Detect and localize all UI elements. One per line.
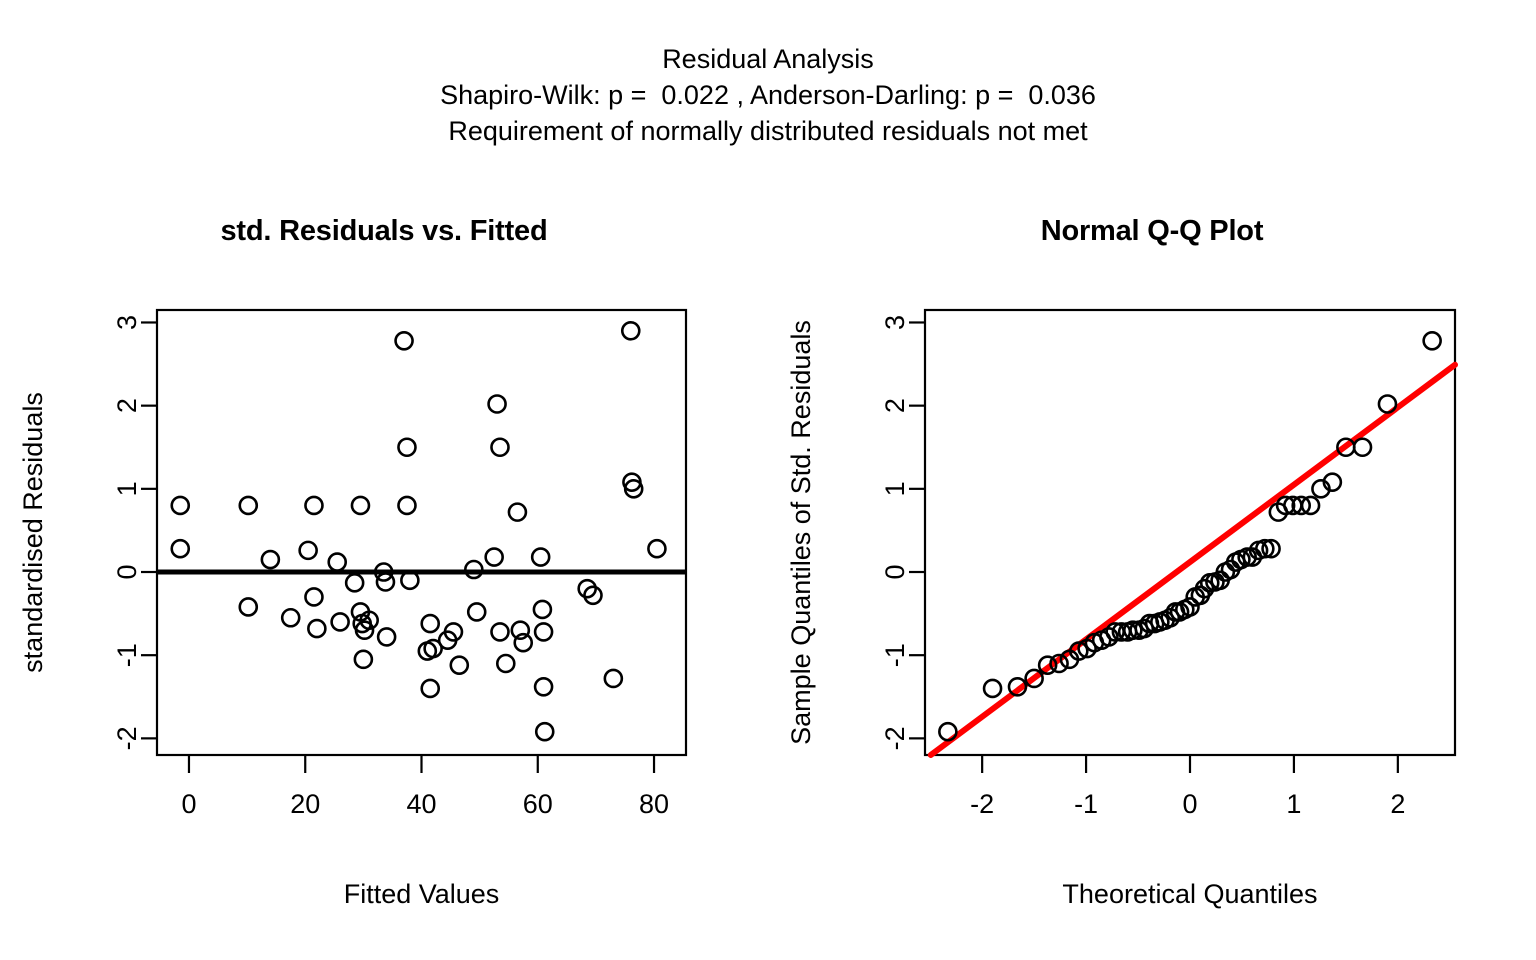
residual-analysis-figure: Residual Analysis Shapiro-Wilk: p = 0.02… <box>0 0 1536 960</box>
data-point <box>532 549 549 566</box>
x-tick-label: -2 <box>970 789 994 819</box>
data-point <box>1354 439 1371 456</box>
y-tick-label: -1 <box>112 643 142 667</box>
data-point <box>282 609 299 626</box>
data-point <box>491 623 508 640</box>
data-point <box>355 651 372 668</box>
data-point <box>352 497 369 514</box>
data-point <box>305 588 322 605</box>
data-point <box>396 332 413 349</box>
y-tick-label: 0 <box>880 564 910 579</box>
data-point <box>172 497 189 514</box>
panel-normal-qq: Normal Q-Q Plot -2-10123-2-1012Theoretic… <box>768 0 1536 960</box>
panel-residuals-vs-fitted: std. Residuals vs. Fitted -2-10123020406… <box>0 0 768 960</box>
y-tick-label: 1 <box>112 481 142 496</box>
data-point <box>984 680 1001 697</box>
data-point <box>240 497 257 514</box>
data-point <box>377 573 394 590</box>
y-tick-label: 3 <box>112 315 142 330</box>
y-tick-label: 3 <box>880 315 910 330</box>
data-point <box>422 680 439 697</box>
data-point <box>1424 332 1441 349</box>
data-point <box>172 540 189 557</box>
x-axis-title: Theoretical Quantiles <box>1062 879 1317 909</box>
data-point <box>648 540 665 557</box>
plot-panels: std. Residuals vs. Fitted -2-10123020406… <box>0 0 1536 960</box>
data-point <box>1379 395 1396 412</box>
x-axis-title: Fitted Values <box>344 879 500 909</box>
data-point <box>535 678 552 695</box>
x-tick-label: 0 <box>181 789 196 819</box>
data-point <box>451 657 468 674</box>
data-point <box>486 549 503 566</box>
data-point <box>346 574 363 591</box>
data-points <box>172 322 666 740</box>
data-point <box>497 655 514 672</box>
x-tick-label: 40 <box>406 789 436 819</box>
data-point <box>489 395 506 412</box>
y-tick-label: -2 <box>112 726 142 750</box>
data-point <box>329 554 346 571</box>
normal-qq-plot: -2-10123-2-1012Theoretical QuantilesSamp… <box>768 0 1536 960</box>
data-point <box>622 322 639 339</box>
residuals-vs-fitted-plot: -2-10123020406080Fitted Valuesstandardis… <box>0 0 768 960</box>
y-tick-label: -1 <box>880 643 910 667</box>
x-tick-label: 20 <box>290 789 320 819</box>
data-point <box>398 497 415 514</box>
y-axis-title: standardised Residuals <box>18 392 48 673</box>
y-tick-label: 2 <box>880 398 910 413</box>
qq-reference-line <box>931 365 1455 755</box>
data-point <box>262 551 279 568</box>
data-point <box>468 603 485 620</box>
data-point <box>515 634 532 651</box>
x-tick-label: 60 <box>523 789 553 819</box>
x-tick-label: 2 <box>1390 789 1405 819</box>
data-point <box>939 723 956 740</box>
y-axis-title: Sample Quantiles of Std. Residuals <box>786 320 816 745</box>
x-tick-label: 0 <box>1182 789 1197 819</box>
data-point <box>491 439 508 456</box>
data-point <box>535 623 552 640</box>
y-tick-label: 1 <box>880 481 910 496</box>
data-point <box>378 628 395 645</box>
data-points <box>939 332 1440 740</box>
x-tick-label: 1 <box>1286 789 1301 819</box>
data-point <box>536 723 553 740</box>
x-tick-label: -1 <box>1074 789 1098 819</box>
data-point <box>332 613 349 630</box>
data-point <box>509 504 526 521</box>
plot-frame <box>925 310 1455 755</box>
y-tick-label: -2 <box>880 726 910 750</box>
y-tick-label: 2 <box>112 398 142 413</box>
y-tick-label: 0 <box>112 564 142 579</box>
data-point <box>422 615 439 632</box>
data-point <box>534 601 551 618</box>
data-point <box>300 542 317 559</box>
data-point <box>398 439 415 456</box>
data-point <box>305 497 322 514</box>
x-tick-label: 80 <box>639 789 669 819</box>
data-point <box>240 598 257 615</box>
data-point <box>308 620 325 637</box>
data-point <box>605 670 622 687</box>
